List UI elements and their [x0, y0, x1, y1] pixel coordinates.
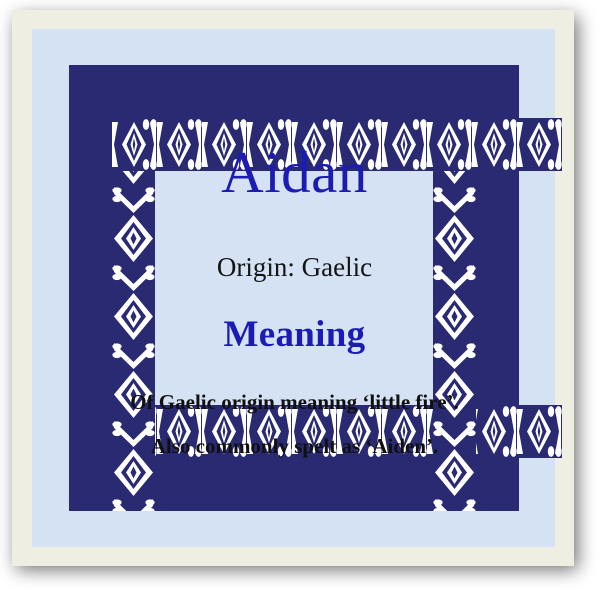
meaning-text-line-1: Of Gaelic origin meaning ‘little fire’. [112, 353, 477, 413]
ceramic-tile: Aidan Origin: Gaelic Meaning Of Gaelic o… [12, 10, 574, 566]
origin-line: Origin: Gaelic [112, 202, 477, 281]
name-title: Aidan [112, 65, 477, 202]
meaning-text-line-2: Also commonly spelt as ‘Aiden’. [112, 413, 477, 457]
meaning-heading: Meaning [112, 281, 477, 353]
pale-blue-field: Aidan Origin: Gaelic Meaning Of Gaelic o… [32, 29, 555, 547]
tile-text-content: Aidan Origin: Gaelic Meaning Of Gaelic o… [112, 65, 477, 511]
tile-stage: Aidan Origin: Gaelic Meaning Of Gaelic o… [0, 0, 608, 608]
